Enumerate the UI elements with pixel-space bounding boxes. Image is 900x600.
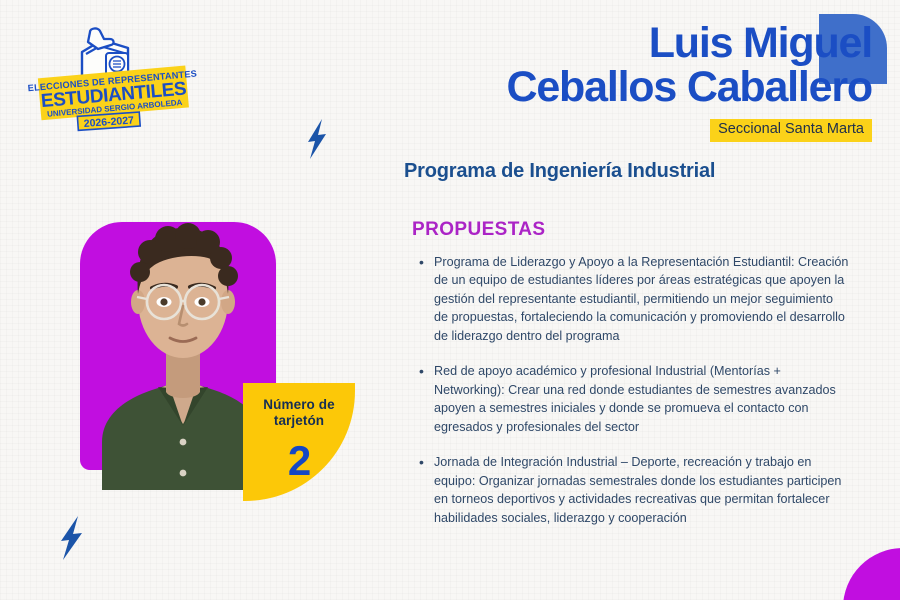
seccional-row: Seccional Santa Marta	[404, 119, 872, 142]
campaign-poster: ELECCIONES DE REPRESENTANTES ESTUDIANTIL…	[0, 0, 900, 600]
ticket-label: Número de tarjetón	[243, 397, 355, 428]
ticket-label-line2: tarjetón	[274, 413, 324, 428]
election-logo: ELECCIONES DE REPRESENTANTES ESTUDIANTIL…	[24, 26, 200, 134]
list-item: Red de apoyo académico y profesional Ind…	[434, 362, 872, 436]
proposals-heading: PROPUESTAS	[412, 219, 872, 241]
ballot-box-icon	[82, 28, 128, 78]
lightning-bolt-icon	[56, 515, 86, 561]
lightning-bolt-icon	[304, 118, 330, 160]
list-item: Programa de Liderazgo y Apoyo a la Repre…	[434, 253, 872, 346]
list-item: Jornada de Integración Industrial – Depo…	[434, 453, 872, 527]
ticket-label-line1: Número de	[263, 397, 334, 412]
candidate-name-line2: Ceballos Caballero	[404, 66, 872, 110]
proposals-list: Programa de Liderazgo y Apoyo a la Repre…	[434, 253, 872, 528]
ticket-number-badge: Número de tarjetón 2	[243, 383, 355, 501]
ticket-number: 2	[243, 440, 355, 482]
magenta-circle-shape	[843, 548, 900, 600]
seccional-badge: Seccional Santa Marta	[710, 119, 872, 142]
program-title: Programa de Ingeniería Industrial	[404, 160, 872, 183]
candidate-info-column: Luis Miguel Ceballos Caballero Seccional…	[404, 22, 872, 544]
candidate-name: Luis Miguel Ceballos Caballero	[404, 22, 872, 110]
candidate-name-line1: Luis Miguel	[404, 22, 872, 66]
